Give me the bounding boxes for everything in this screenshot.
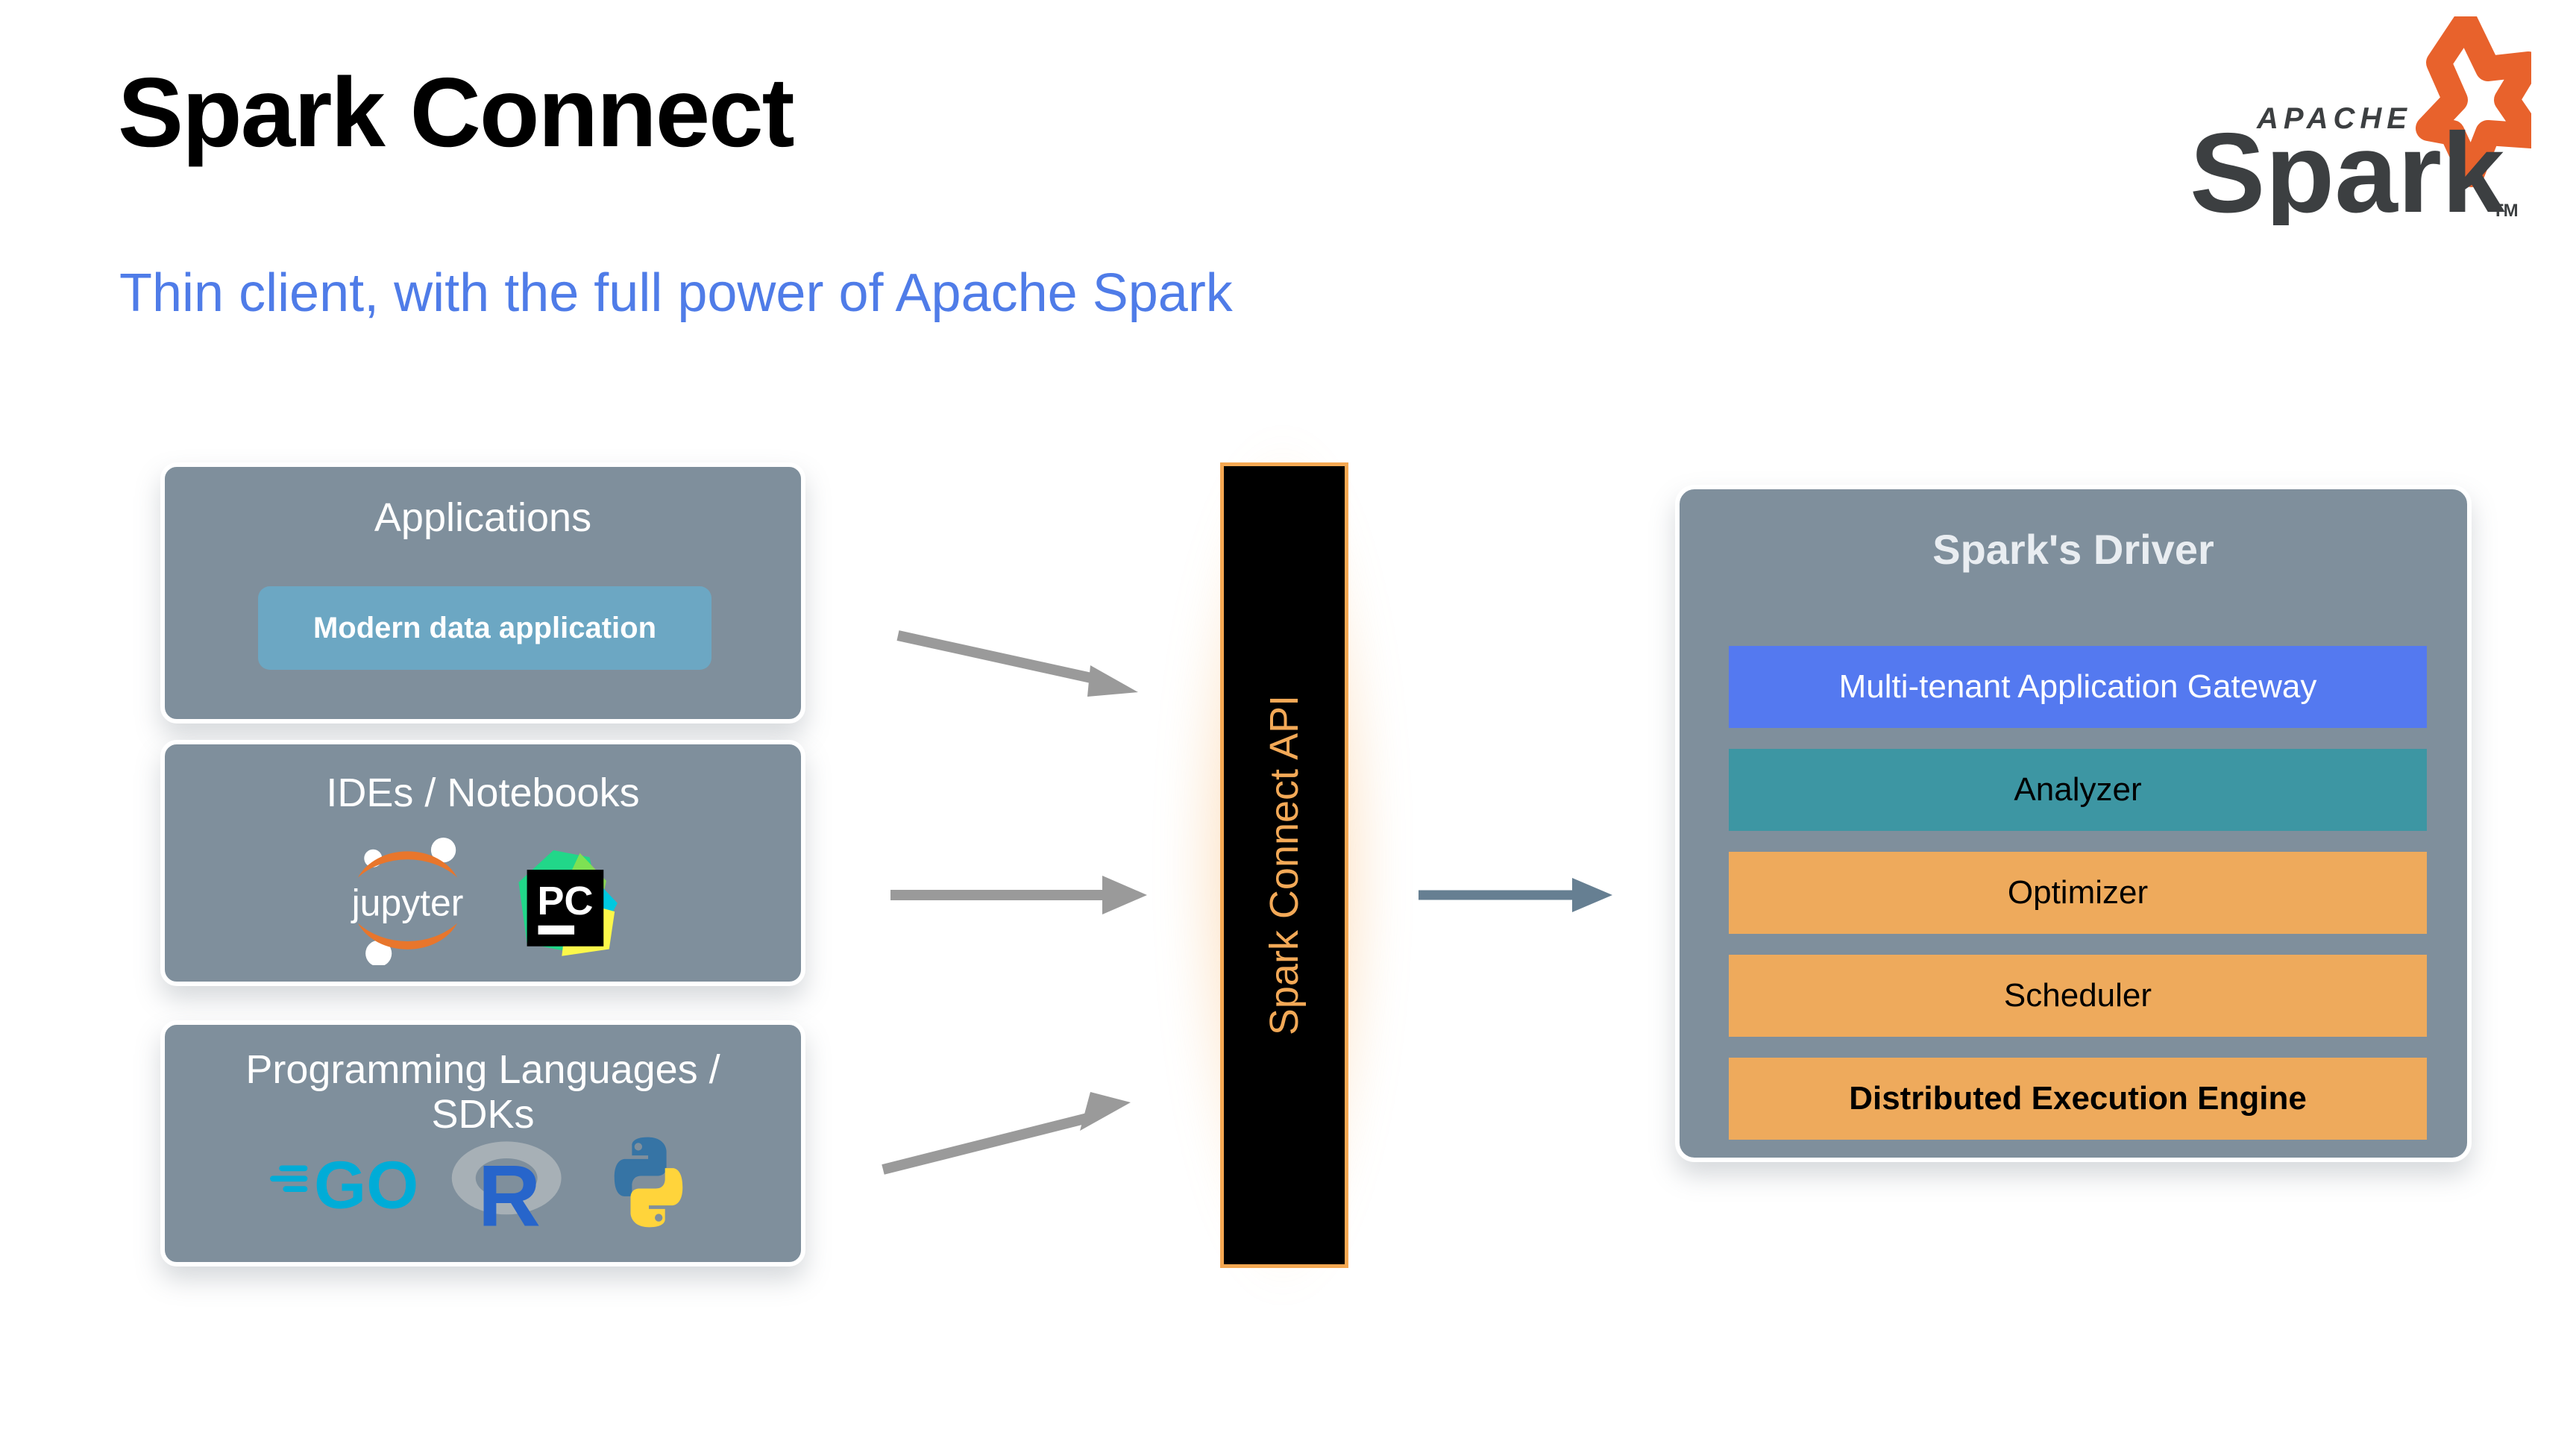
driver-layer[interactable]: Optimizer [1729, 852, 2427, 934]
languages-title-line-2: SDKs [165, 1092, 801, 1137]
page-title: Spark Connect [118, 56, 794, 169]
client-card-applications: Applications Modern data application [160, 462, 805, 723]
ide-logo-row: jupyter PC [165, 838, 801, 965]
applications-title: Applications [165, 495, 801, 540]
client-card-ides-notebooks: IDEs / Notebooks jupyter PC [160, 740, 805, 986]
modern-data-application-item[interactable]: Modern data application [258, 586, 711, 670]
r-language-logo-label: R [477, 1146, 540, 1231]
r-language-logo: R [449, 1133, 568, 1231]
golang-logo-label: GO [314, 1148, 418, 1221]
python-logo [600, 1133, 698, 1231]
trademark-text: TM [2492, 201, 2519, 221]
apache-spark-logo: APACHE Spark TM [2143, 16, 2531, 225]
spark-wordmark-text: Spark [2190, 110, 2505, 225]
languages-title-line-1: Programming Languages / [165, 1047, 801, 1092]
pycharm-logo: PC [502, 839, 627, 964]
jupyter-logo: jupyter [339, 838, 477, 965]
jupyter-logo-label: jupyter [351, 882, 464, 923]
languages-sdks-title: Programming Languages / SDKs [165, 1047, 801, 1137]
spark-driver-panel: Spark's Driver Multi-tenant Application … [1675, 485, 2472, 1162]
ides-notebooks-title: IDEs / Notebooks [165, 770, 801, 815]
client-card-languages-sdks: Programming Languages / SDKs GO R [160, 1020, 805, 1266]
spark-connect-api-label: Spark Connect API [1261, 695, 1307, 1035]
driver-layer[interactable]: Analyzer [1729, 749, 2427, 831]
golang-logo: GO [268, 1143, 418, 1221]
arrow-ides-to-api [888, 865, 1178, 925]
page-subtitle: Thin client, with the full power of Apac… [119, 263, 1233, 324]
arrow-api-to-driver [1417, 869, 1656, 921]
arrow-languages-to-api [880, 1059, 1178, 1178]
driver-layer[interactable]: Multi-tenant Application Gateway [1729, 646, 2427, 728]
driver-layer[interactable]: Distributed Execution Engine [1729, 1058, 2427, 1140]
pycharm-logo-label: PC [537, 878, 593, 923]
spark-driver-layer-stack: Multi-tenant Application GatewayAnalyzer… [1729, 646, 2427, 1140]
spark-driver-title: Spark's Driver [1680, 527, 2467, 574]
driver-layer[interactable]: Scheduler [1729, 955, 2427, 1037]
arrow-applications-to-api [895, 627, 1178, 716]
spark-connect-api-bar[interactable]: Spark Connect API [1220, 462, 1348, 1268]
language-logo-row: GO R [165, 1133, 801, 1231]
